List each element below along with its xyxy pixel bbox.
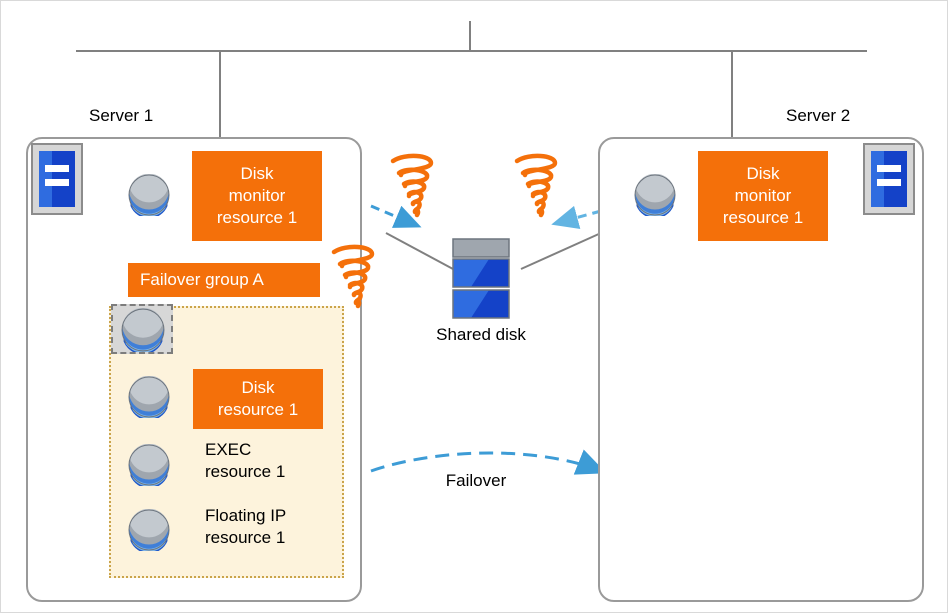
server-icon: [31, 143, 83, 215]
server2-label: Server 2: [786, 106, 850, 126]
disk-resource-1: Disk resource 1: [193, 369, 323, 429]
disk-path-server2: [521, 233, 601, 269]
disk-monitor-resource-1-server2: Disk monitor resource 1: [698, 151, 828, 241]
server1-label: Server 1: [89, 106, 153, 126]
shared-disk-icon: [451, 237, 511, 321]
disk-monitor-resource-1-server1: Disk monitor resource 1: [192, 151, 322, 241]
tornado-failure-icon: [326, 244, 382, 310]
globe-icon: [128, 174, 170, 216]
disk-path-server1: [386, 233, 453, 269]
floating-ip-resource-1: Floating IP resource 1: [205, 505, 355, 549]
globe-icon: [128, 509, 170, 551]
globe-icon: [128, 444, 170, 486]
globe-icon: [634, 174, 676, 216]
selected-resource-icon[interactable]: [111, 304, 173, 354]
failover-group-a-label: Failover group A: [128, 263, 320, 297]
failover-label: Failover: [406, 471, 546, 491]
exec-resource-1: EXEC resource 1: [205, 439, 345, 483]
globe-icon: [128, 376, 170, 418]
tornado-failure-icon: [385, 153, 441, 219]
failover-arrow: [371, 453, 601, 471]
shared-disk-label: Shared disk: [401, 325, 561, 345]
globe-icon: [121, 308, 165, 352]
tornado-failure-icon: [509, 153, 565, 219]
server-icon: [863, 143, 915, 215]
diagram-canvas: Server 1 Server 2 Disk monitor resource …: [0, 0, 948, 613]
